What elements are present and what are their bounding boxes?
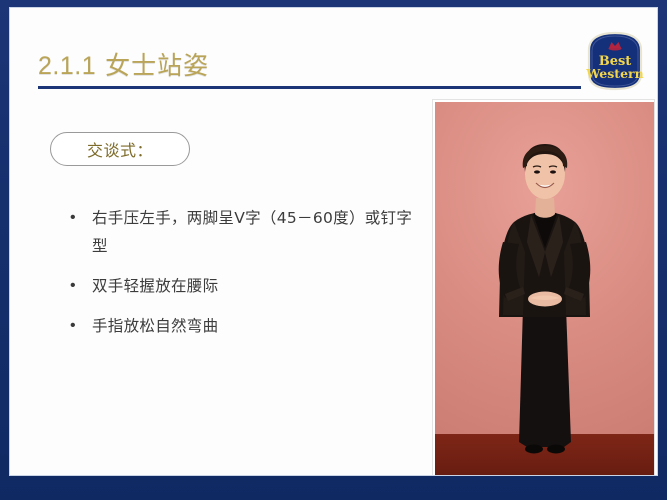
page-title-number: 2.1.1 [38, 52, 96, 80]
bullet-marker: • [70, 312, 92, 340]
page-title-text: 女士站姿 [105, 51, 209, 80]
callout-box: 交谈式： [50, 132, 190, 166]
bullet-list: • 右手压左手，两脚呈V字（45－60度）或钉字型 • 双手轻握放在腰际 • 手… [70, 204, 415, 352]
slide-content-area: 2.1.1 女士站姿 Best Western 交谈式： • 右手压左手，两脚呈… [10, 8, 657, 475]
title-underline-rule [38, 86, 581, 89]
list-item: • 右手压左手，两脚呈V字（45－60度）或钉字型 [70, 204, 415, 260]
list-item: • 双手轻握放在腰际 [70, 272, 415, 300]
bullet-marker: • [70, 204, 92, 232]
page-title: 2.1.1 女士站姿 [38, 46, 209, 82]
standing-posture-photo [432, 99, 655, 475]
list-item-text: 双手轻握放在腰际 [92, 272, 415, 300]
callout-label: 交谈式： [51, 133, 189, 165]
logo-line2: Western [585, 66, 643, 81]
slide-frame: 2.1.1 女士站姿 Best Western 交谈式： • 右手压左手，两脚呈… [0, 0, 667, 500]
list-item: • 手指放松自然弯曲 [70, 312, 415, 340]
photo-subject [435, 102, 654, 475]
list-item-text: 右手压左手，两脚呈V字（45－60度）或钉字型 [92, 204, 415, 260]
bullet-marker: • [70, 272, 92, 300]
list-item-text: 手指放松自然弯曲 [92, 312, 415, 340]
best-western-logo: Best Western [583, 30, 647, 92]
photo-image [435, 102, 654, 475]
